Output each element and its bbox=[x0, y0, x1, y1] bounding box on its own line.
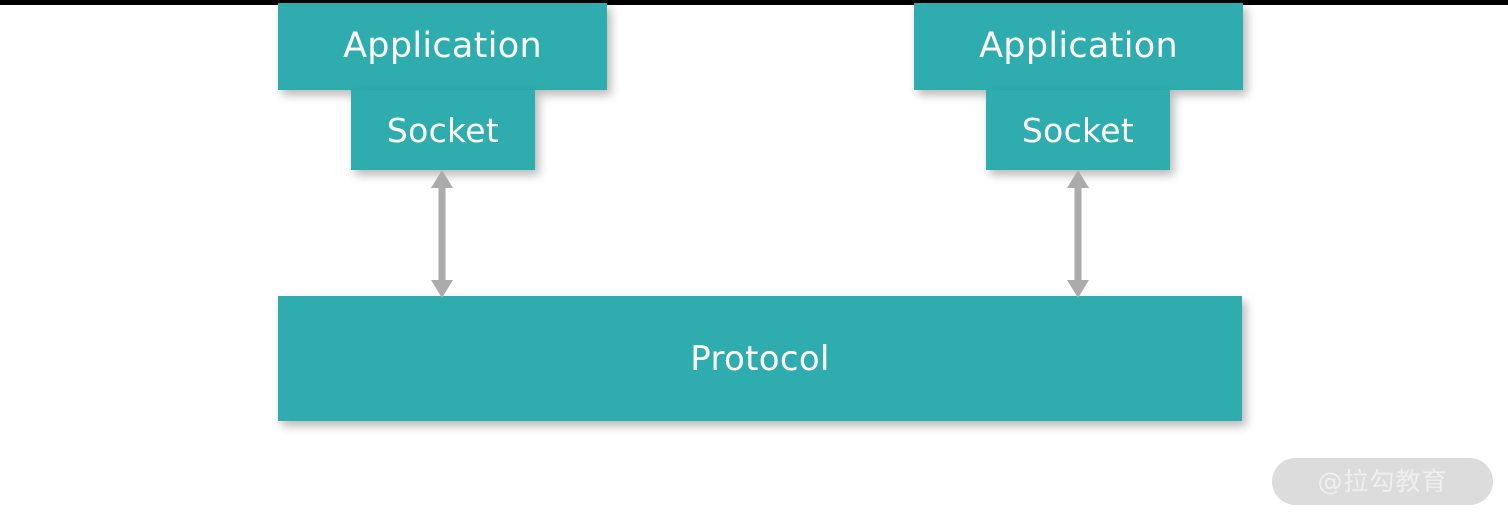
diagram-canvas: Application Socket Application Socket Pr… bbox=[0, 0, 1508, 532]
socket-block-left-label: Socket bbox=[387, 114, 499, 147]
application-block-right-label: Application bbox=[979, 29, 1178, 64]
application-block-left: Application bbox=[278, 3, 607, 90]
socket-block-right-label: Socket bbox=[1022, 114, 1134, 147]
watermark-badge: @拉勾教育 bbox=[1272, 458, 1493, 505]
application-block-right: Application bbox=[914, 3, 1243, 90]
protocol-block: Protocol bbox=[278, 296, 1242, 421]
protocol-block-label: Protocol bbox=[690, 342, 829, 376]
watermark-text: @拉勾教育 bbox=[1317, 469, 1447, 494]
socket-block-right: Socket bbox=[986, 90, 1170, 170]
double-arrow-icon-right bbox=[1061, 170, 1095, 298]
socket-block-left: Socket bbox=[351, 90, 535, 170]
top-black-bar bbox=[0, 0, 1508, 5]
application-block-left-label: Application bbox=[343, 29, 542, 64]
double-arrow-icon-left bbox=[425, 170, 459, 298]
